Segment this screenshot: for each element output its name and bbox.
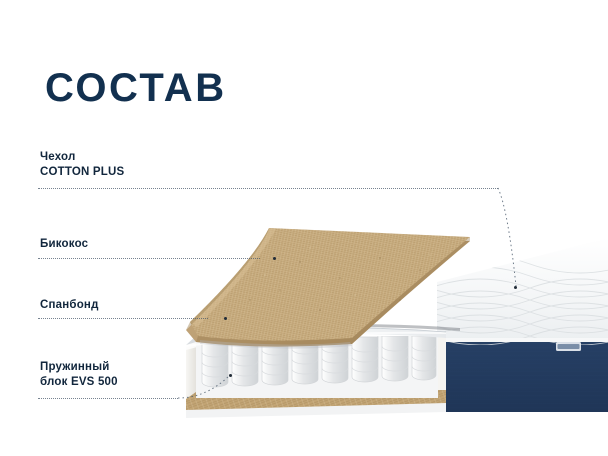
label-spring-line1: Пружинный	[40, 360, 118, 375]
leader-line-cover	[498, 188, 516, 286]
label-cover-line2: COTTON PLUS	[40, 165, 124, 180]
leader-line-coir	[38, 258, 260, 260]
layer-separator	[196, 324, 460, 337]
spunbond-layer	[186, 328, 446, 347]
leader-line-spring-horizontal	[38, 398, 178, 400]
brand-badge	[556, 342, 581, 351]
page-title: СОСТАВ	[45, 68, 227, 108]
leader-endpoint-spring	[229, 374, 232, 377]
mattress-composition-infographic: СОСТАВ Чехол COTTON PLUS Бикокос Спанбон…	[0, 0, 608, 456]
label-spunbond-line1: Спанбонд	[40, 298, 99, 313]
label-coir: Бикокос	[40, 237, 88, 252]
label-coir-line1: Бикокос	[40, 237, 88, 252]
leader-line-cover-horizontal	[38, 188, 498, 190]
mattress-side-panel	[437, 340, 608, 412]
label-spring-line2: блок EVS 500	[40, 375, 118, 390]
label-spring-block: Пружинный блок EVS 500	[40, 360, 118, 390]
label-cover: Чехол COTTON PLUS	[40, 150, 124, 180]
coconut-coir-layer	[186, 228, 470, 347]
foam-side-border	[186, 333, 231, 399]
spring-block	[196, 330, 446, 400]
coir-shadow	[200, 340, 352, 349]
foam-side-border-right	[438, 336, 446, 390]
leader-endpoint-coir	[273, 257, 276, 260]
label-spunbond: Спанбонд	[40, 298, 99, 313]
leader-line-spunbond	[38, 318, 208, 320]
leader-endpoint-cover	[514, 286, 517, 289]
base-strip	[186, 403, 446, 418]
leader-line-spring	[178, 376, 229, 398]
label-cover-line1: Чехол	[40, 150, 124, 165]
coir-base-slab	[186, 385, 446, 412]
leader-endpoint-spunbond	[224, 317, 227, 320]
quilted-cover-top	[430, 238, 608, 345]
